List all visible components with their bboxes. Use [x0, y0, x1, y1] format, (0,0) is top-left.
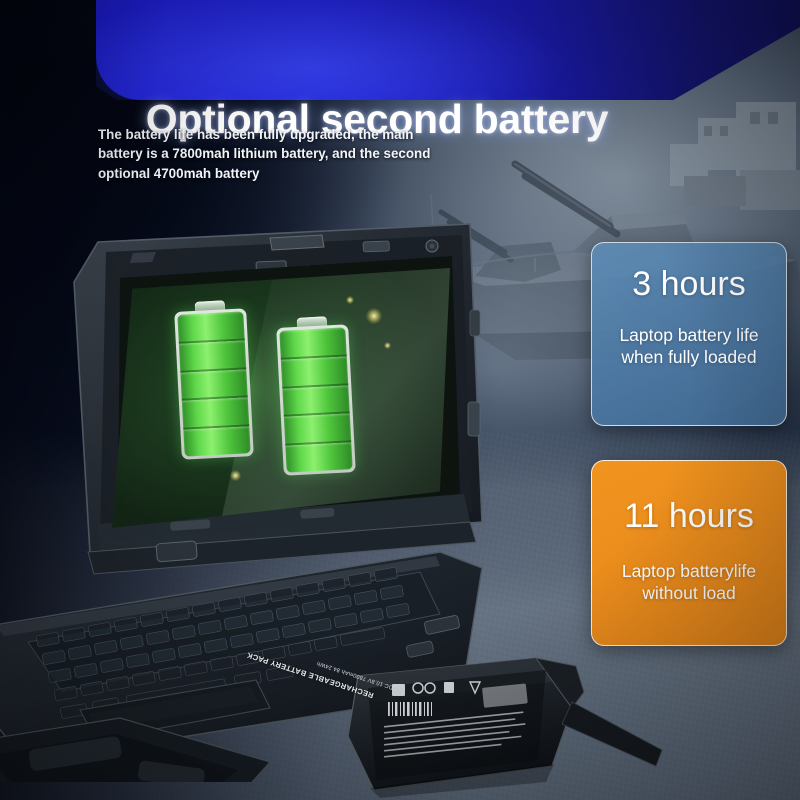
vignette-overlay	[0, 0, 800, 800]
product-infographic: Optional second battery The battery life…	[0, 0, 800, 800]
